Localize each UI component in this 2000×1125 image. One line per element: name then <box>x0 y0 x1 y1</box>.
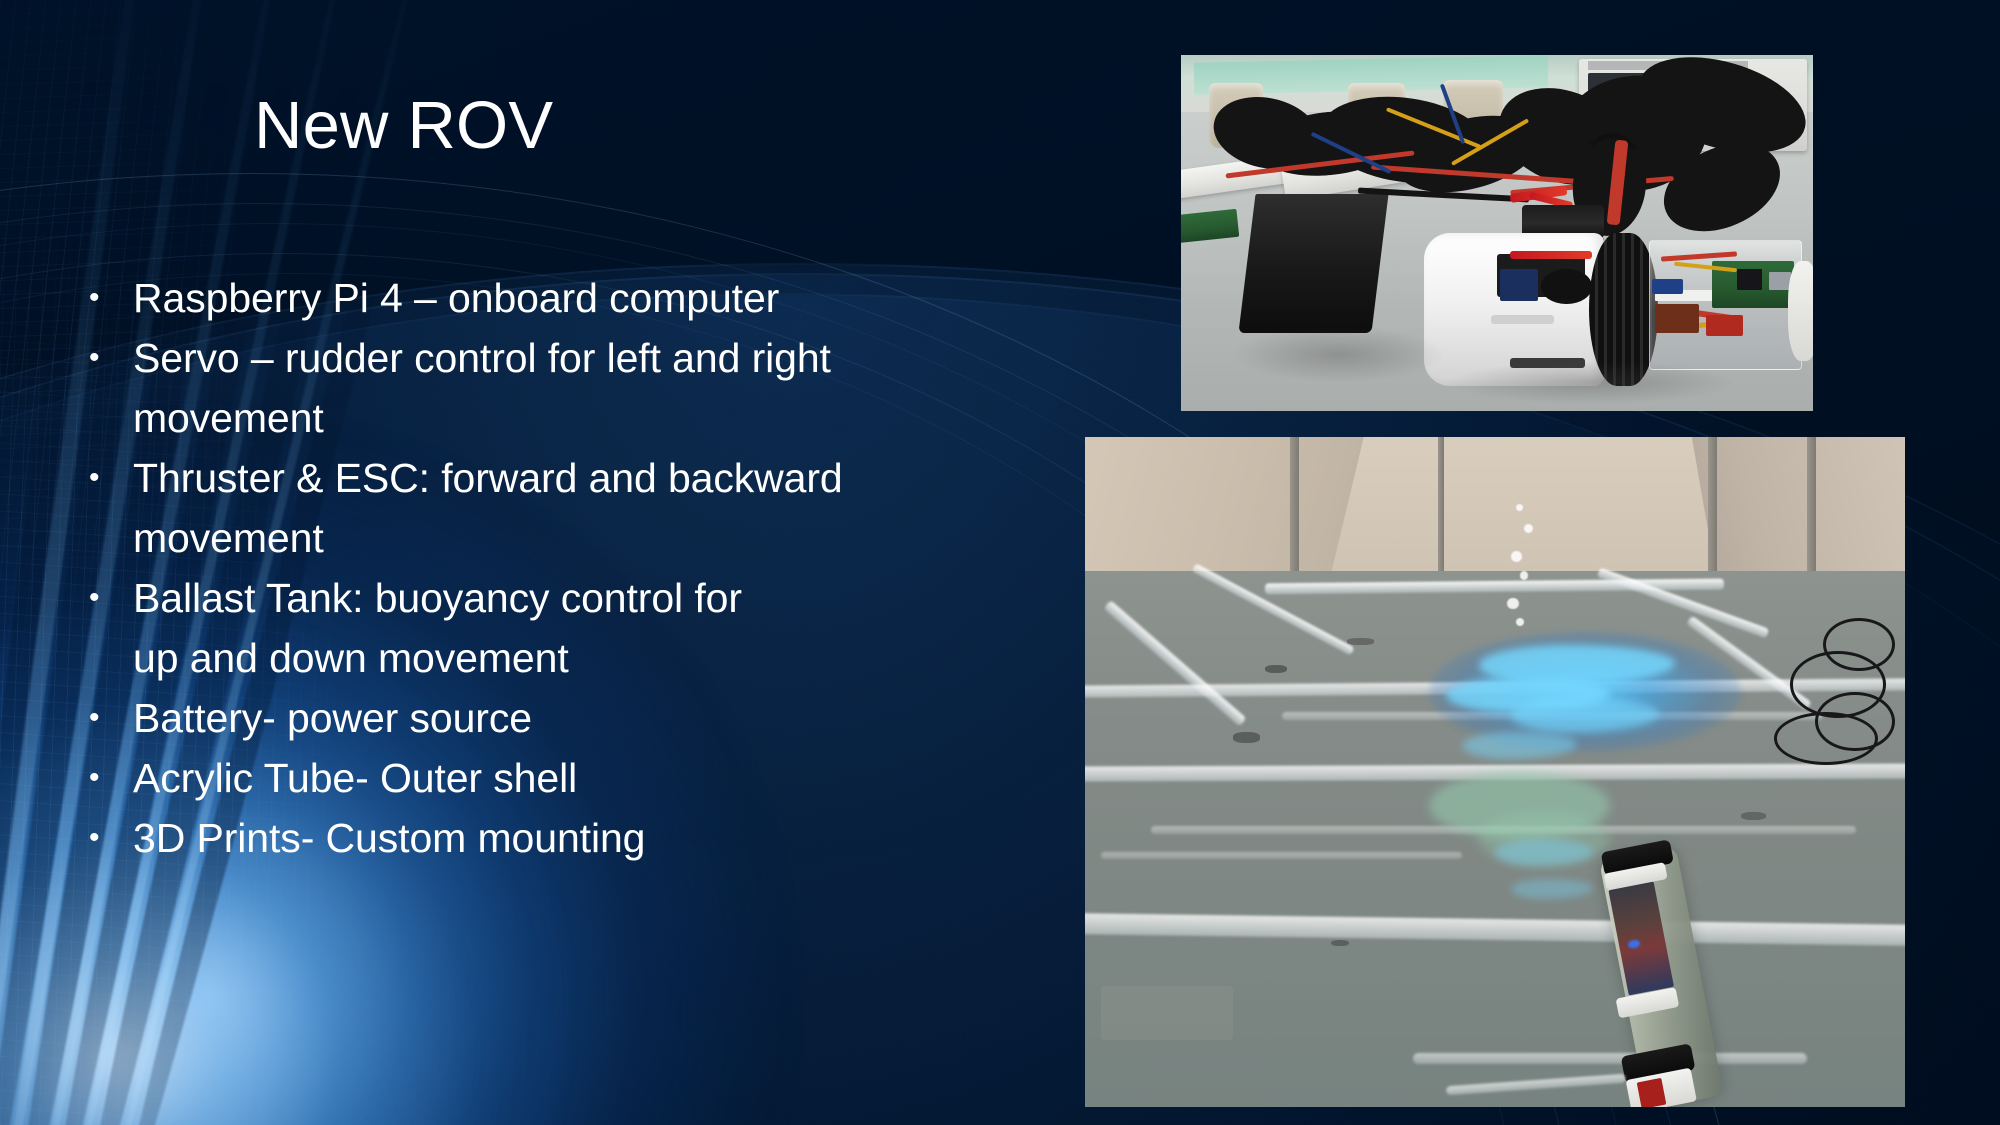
slide-title: New ROV <box>254 92 553 159</box>
list-item: • 3D Prints- Custom mounting <box>80 808 960 868</box>
list-item-label: 3D Prints- Custom mounting <box>133 808 960 868</box>
bullet-marker-icon: • <box>80 448 133 508</box>
bullet-marker-icon: • <box>80 328 133 388</box>
list-item: • Battery- power source <box>80 688 960 748</box>
list-item: • Acrylic Tube- Outer shell <box>80 748 960 808</box>
list-item-label: Servo – rudder control for left and righ… <box>133 328 960 448</box>
rov-bench-photo <box>1181 55 1813 411</box>
list-item: • Raspberry Pi 4 – onboard computer <box>80 268 960 328</box>
list-item-label: Raspberry Pi 4 – onboard computer <box>133 268 960 328</box>
bullet-marker-icon: • <box>80 268 133 328</box>
rudder-fin <box>1239 194 1389 333</box>
list-item-label: Acrylic Tube- Outer shell <box>133 748 960 808</box>
list-item: • Servo – rudder control for left and ri… <box>80 328 960 448</box>
rov-water-tank-photo <box>1085 437 1905 1107</box>
bullet-marker-icon: • <box>80 688 133 748</box>
list-item-label: Thruster & ESC: forward and backward mov… <box>133 448 960 568</box>
bullet-marker-icon: • <box>80 808 133 868</box>
list-item: • Ballast Tank: buoyancy control for up … <box>80 568 960 688</box>
list-item-label: Ballast Tank: buoyancy control for up an… <box>133 568 960 688</box>
bullet-marker-icon: • <box>80 748 133 808</box>
presentation-slide: New ROV • Raspberry Pi 4 – onboard compu… <box>0 0 2000 1125</box>
bullet-list: • Raspberry Pi 4 – onboard computer • Se… <box>80 268 960 868</box>
list-item-label: Battery- power source <box>133 688 960 748</box>
list-item: • Thruster & ESC: forward and backward m… <box>80 448 960 568</box>
bullet-marker-icon: • <box>80 568 133 628</box>
